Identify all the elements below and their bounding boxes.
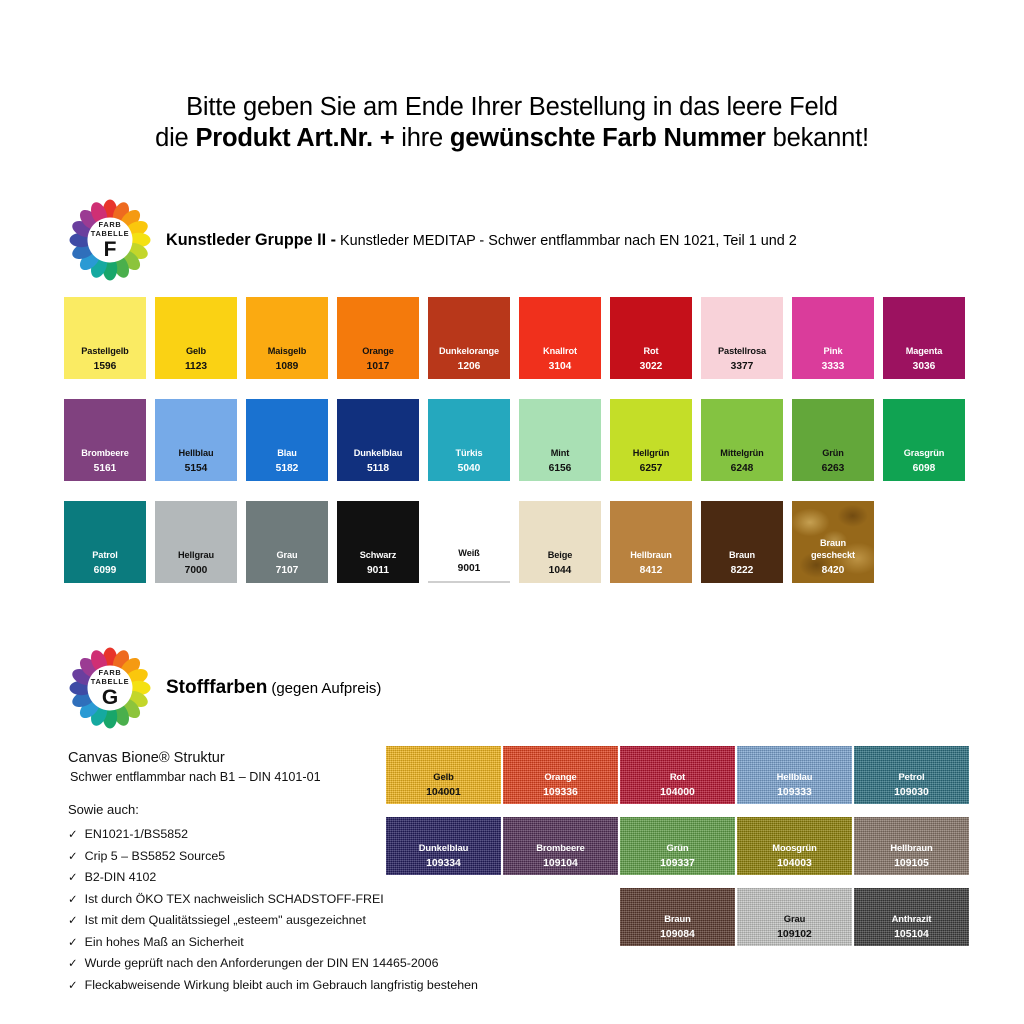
- color-swatch[interactable]: Patrol6099: [64, 501, 146, 583]
- swatch-number: 104001: [426, 786, 461, 799]
- swatch-name: Grün: [822, 448, 844, 460]
- swatch-number: 3333: [822, 360, 845, 373]
- check-icon: ✓: [68, 890, 78, 911]
- color-swatch[interactable]: Dunkelblau5118: [337, 399, 419, 481]
- fabric-swatch[interactable]: Hellblau109333: [737, 746, 852, 804]
- color-swatch[interactable]: Mittelgrün6248: [701, 399, 783, 481]
- headline-line2-part-e: bekannt!: [766, 124, 869, 152]
- swatch-name: Mint: [551, 448, 569, 460]
- swatch-number: 105104: [894, 928, 929, 941]
- feature-item: ✓EN1021-1/BS5852: [68, 824, 368, 846]
- color-swatch[interactable]: Knallrot3104: [519, 297, 601, 379]
- swatch-name: Weiß: [458, 548, 479, 560]
- swatch-name: Grau: [276, 550, 297, 562]
- swatch-number: 9011: [367, 564, 389, 577]
- swatch-name: Grasgrün: [904, 448, 945, 460]
- check-icon: ✓: [68, 911, 78, 932]
- swatch-number: 7000: [185, 564, 208, 577]
- stofffarben-subtitle: (gegen Aufpreis): [271, 680, 381, 697]
- swatch-number: 109084: [660, 928, 695, 941]
- swatch-number: 5040: [458, 462, 481, 475]
- color-swatch[interactable]: Hellbraun8412: [610, 501, 692, 583]
- page-headline: Bitte geben Sie am Ende Ihrer Bestellung…: [0, 0, 1024, 154]
- swatch-number: 1044: [549, 564, 572, 577]
- stofffarben-swatch-grid: Gelb104001Orange109336Rot104000Hellblau1…: [386, 746, 969, 946]
- feature-item: ✓Ist mit dem Qualitätssiegel „esteem" au…: [68, 910, 368, 932]
- swatch-number: 1017: [367, 360, 390, 373]
- swatch-name: Pink: [823, 346, 842, 358]
- stofffarben-heading: Stofffarben (gegen Aufpreis): [166, 679, 381, 698]
- color-swatch[interactable]: Grasgrün6098: [883, 399, 965, 481]
- swatch-number: 5154: [185, 462, 208, 475]
- fabric-swatch[interactable]: Orange109336: [503, 746, 618, 804]
- swatch-name: Blau: [277, 448, 297, 460]
- swatch-number: 6263: [822, 462, 845, 475]
- swatch-name: Gelb: [433, 771, 453, 783]
- swatch-name: Moosgrün: [772, 842, 817, 854]
- fabric-swatch[interactable]: Grau109102: [737, 888, 852, 946]
- swatch-number: 8412: [640, 564, 663, 577]
- feature-item: ✓Crip 5 – BS5852 Source5: [68, 846, 368, 868]
- swatch-name: Grau: [784, 913, 805, 925]
- fabric-swatch[interactable]: Anthrazit105104: [854, 888, 969, 946]
- color-swatch[interactable]: Orange1017: [337, 297, 419, 379]
- fabric-swatch[interactable]: Hellbraun109105: [854, 817, 969, 875]
- features-list: ✓EN1021-1/BS5852✓Crip 5 – BS5852 Source5…: [68, 824, 368, 996]
- swatch-number: 109030: [894, 786, 929, 799]
- swatch-number: 6156: [549, 462, 572, 475]
- swatch-name: Rot: [643, 346, 658, 358]
- color-swatch[interactable]: Pastellrosa3377: [701, 297, 783, 379]
- color-swatch[interactable]: Grau7107: [246, 501, 328, 583]
- swatch-number: 109105: [894, 857, 929, 870]
- headline-line-1: Bitte geben Sie am Ende Ihrer Bestellung…: [186, 93, 838, 121]
- color-swatch[interactable]: Türkis5040: [428, 399, 510, 481]
- swatch-number: 5161: [94, 462, 117, 475]
- swatch-name: Grün: [667, 842, 689, 854]
- swatch-name: Dunkelblau: [354, 448, 403, 460]
- swatch-name: Beige: [548, 550, 573, 562]
- stofffarben-description: Canvas Bione® Struktur Schwer entflammba…: [68, 748, 368, 996]
- color-swatch[interactable]: Grün6263: [792, 399, 874, 481]
- feature-text: B2-DIN 4102: [85, 867, 157, 888]
- swatch-number: 109337: [660, 857, 695, 870]
- swatch-name: Schwarz: [360, 550, 397, 562]
- product-title: Canvas Bione® Struktur: [68, 748, 368, 768]
- swatch-name: Braun: [664, 913, 691, 925]
- color-swatch[interactable]: Hellblau5154: [155, 399, 237, 481]
- feature-text: Crip 5 – BS5852 Source5: [85, 846, 226, 867]
- feature-item: ✓Ist durch ÖKO TEX nachweislich SCHADSTO…: [68, 889, 368, 911]
- swatch-name: Orange: [544, 771, 576, 783]
- check-icon: ✓: [68, 847, 78, 868]
- stofffarben-title: Stofffarben: [166, 677, 267, 698]
- color-rosette-icon: [68, 198, 152, 282]
- stofffarben-section-header: FARB TABELLE G Stofffarben (gegen Aufpre…: [68, 646, 1024, 730]
- swatch-name: Braun: [729, 550, 755, 562]
- swatch-name: Maisgelb: [268, 346, 307, 358]
- swatch-name: Brombeere: [536, 842, 585, 854]
- feature-text: Wurde geprüft nach den Anforderungen der…: [85, 953, 439, 974]
- color-swatch[interactable]: Dunkelorange1206: [428, 297, 510, 379]
- swatch-number: 8420: [822, 564, 845, 577]
- color-swatch[interactable]: Braun8222: [701, 501, 783, 583]
- feature-text: EN1021-1/BS5852: [85, 824, 188, 845]
- check-icon: ✓: [68, 933, 78, 954]
- swatch-number: 6248: [731, 462, 754, 475]
- fabric-swatch[interactable]: Brombeere109104: [503, 817, 618, 875]
- swatch-number: 104003: [777, 857, 812, 870]
- kunstleder-subtitle: Kunstleder MEDITAP - Schwer entflammbar …: [340, 233, 797, 249]
- feature-item: ✓Fleckabweisende Wirkung bleibt auch im …: [68, 975, 368, 997]
- kunstleder-swatch-grid: Pastellgelb1596Gelb1123Maisgelb1089Orang…: [64, 297, 965, 583]
- color-swatch[interactable]: Rot3022: [610, 297, 692, 379]
- feature-item: ✓B2-DIN 4102: [68, 867, 368, 889]
- swatch-number: 109333: [777, 786, 812, 799]
- check-icon: ✓: [68, 954, 78, 975]
- swatch-name: Pastellgelb: [81, 346, 128, 358]
- color-swatch[interactable]: Weiß9001: [428, 501, 510, 583]
- color-swatch[interactable]: Gelb1123: [155, 297, 237, 379]
- color-swatch[interactable]: Beige1044: [519, 501, 601, 583]
- swatch-name: Brombeere: [81, 448, 129, 460]
- swatch-number: 104000: [660, 786, 695, 799]
- color-swatch[interactable]: Braungescheckt8420: [792, 501, 874, 583]
- check-icon: ✓: [68, 825, 78, 846]
- feature-text: Fleckabweisende Wirkung bleibt auch im G…: [85, 975, 478, 996]
- swatch-name: Hellgrün: [633, 448, 669, 460]
- feature-item: ✓Ein hohes Maß an Sicherheit: [68, 932, 368, 954]
- swatch-number: 1089: [276, 360, 299, 373]
- swatch-number: 3377: [731, 360, 754, 373]
- swatch-number: 7107: [276, 564, 299, 577]
- color-rosette-icon: [68, 646, 152, 730]
- swatch-name: Orange: [362, 346, 394, 358]
- headline-emphasis-farb-nummer: gewünschte Farb Nummer: [450, 124, 766, 152]
- swatch-name: Pastellrosa: [718, 346, 766, 358]
- product-subtitle: Schwer entflammbar nach B1 – DIN 4101-01: [70, 768, 368, 787]
- farb-tabelle-g-badge: FARB TABELLE G: [68, 646, 152, 730]
- swatch-name: Petrol: [899, 771, 925, 783]
- color-swatch[interactable]: Mint6156: [519, 399, 601, 481]
- headline-emphasis-art-nr: Produkt Art.Nr. +: [195, 124, 394, 152]
- swatch-number: 1206: [458, 360, 481, 373]
- feature-text: Ist durch ÖKO TEX nachweislich SCHADSTOF…: [85, 889, 384, 910]
- swatch-number: 1123: [185, 360, 207, 373]
- swatch-name: Türkis: [456, 448, 483, 460]
- fabric-swatch[interactable]: Gelb104001: [386, 746, 501, 804]
- swatch-number: 1596: [94, 360, 117, 373]
- kunstleder-section-header: FARB TABELLE F Kunstleder Gruppe II - Ku…: [68, 198, 1024, 282]
- farb-tabelle-f-badge: FARB TABELLE F: [68, 198, 152, 282]
- headline-line-2: die Produkt Art.Nr. + ihre gewünschte Fa…: [0, 123, 1024, 154]
- swatch-number: 8222: [731, 564, 754, 577]
- headline-line2-part-c: ihre: [394, 124, 450, 152]
- swatch-name: Patrol: [92, 550, 117, 562]
- color-swatch[interactable]: Blau5182: [246, 399, 328, 481]
- swatch-name: Mittelgrün: [720, 448, 763, 460]
- swatch-number: 9001: [458, 562, 481, 575]
- fabric-swatch[interactable]: Dunkelblau109334: [386, 817, 501, 875]
- swatch-number: 3104: [549, 360, 572, 373]
- color-swatch[interactable]: Pink3333: [792, 297, 874, 379]
- fabric-swatch[interactable]: Moosgrün104003: [737, 817, 852, 875]
- color-swatch[interactable]: Hellgrau7000: [155, 501, 237, 583]
- swatch-name: Dunkelblau: [419, 842, 469, 854]
- swatch-number: 109104: [543, 857, 578, 870]
- swatch-name: Gelb: [186, 346, 206, 358]
- color-swatch[interactable]: Pastellgelb1596: [64, 297, 146, 379]
- kunstleder-title: Kunstleder Gruppe II -: [166, 231, 336, 249]
- swatch-name: Hellblau: [179, 448, 214, 460]
- fabric-swatch[interactable]: Rot104000: [620, 746, 735, 804]
- swatch-number: 109336: [543, 786, 578, 799]
- features-label: Sowie auch:: [68, 801, 368, 819]
- stofffarben-body: Canvas Bione® Struktur Schwer entflammba…: [0, 748, 1024, 996]
- swatch-number: 6257: [640, 462, 663, 475]
- swatch-name: Hellbraun: [890, 842, 932, 854]
- swatch-name: Magenta: [906, 346, 943, 358]
- swatch-number: 3022: [640, 360, 663, 373]
- swatch-name: Braungescheckt: [811, 538, 855, 561]
- swatch-number: 109334: [426, 857, 461, 870]
- check-icon: ✓: [68, 976, 78, 997]
- fabric-swatch[interactable]: Braun109084: [620, 888, 735, 946]
- swatch-name: Dunkelorange: [439, 346, 499, 358]
- swatch-name: Anthrazit: [892, 913, 932, 925]
- swatch-number: 5118: [367, 462, 389, 475]
- feature-text: Ein hohes Maß an Sicherheit: [85, 932, 244, 953]
- swatch-name: Rot: [670, 771, 685, 783]
- swatch-name: Hellgrau: [178, 550, 214, 562]
- color-swatch[interactable]: Maisgelb1089: [246, 297, 328, 379]
- swatch-number: 3036: [913, 360, 936, 373]
- kunstleder-heading: Kunstleder Gruppe II - Kunstleder MEDITA…: [166, 231, 797, 250]
- fabric-swatch[interactable]: Petrol109030: [854, 746, 969, 804]
- swatch-name: Hellbraun: [630, 550, 671, 562]
- swatch-number: 6098: [913, 462, 936, 475]
- swatch-name: Knallrot: [543, 346, 577, 358]
- color-swatch[interactable]: Hellgrün6257: [610, 399, 692, 481]
- swatch-number: 109102: [777, 928, 812, 941]
- color-swatch[interactable]: Brombeere5161: [64, 399, 146, 481]
- color-swatch[interactable]: Magenta3036: [883, 297, 965, 379]
- color-swatch[interactable]: Schwarz9011: [337, 501, 419, 583]
- check-icon: ✓: [68, 868, 78, 889]
- feature-text: Ist mit dem Qualitätssiegel „esteem" aus…: [85, 910, 366, 931]
- swatch-name: Hellblau: [777, 771, 813, 783]
- headline-line2-part-a: die: [155, 124, 195, 152]
- feature-item: ✓Wurde geprüft nach den Anforderungen de…: [68, 953, 368, 975]
- swatch-number: 6099: [94, 564, 117, 577]
- swatch-number: 5182: [276, 462, 299, 475]
- fabric-swatch[interactable]: Grün109337: [620, 817, 735, 875]
